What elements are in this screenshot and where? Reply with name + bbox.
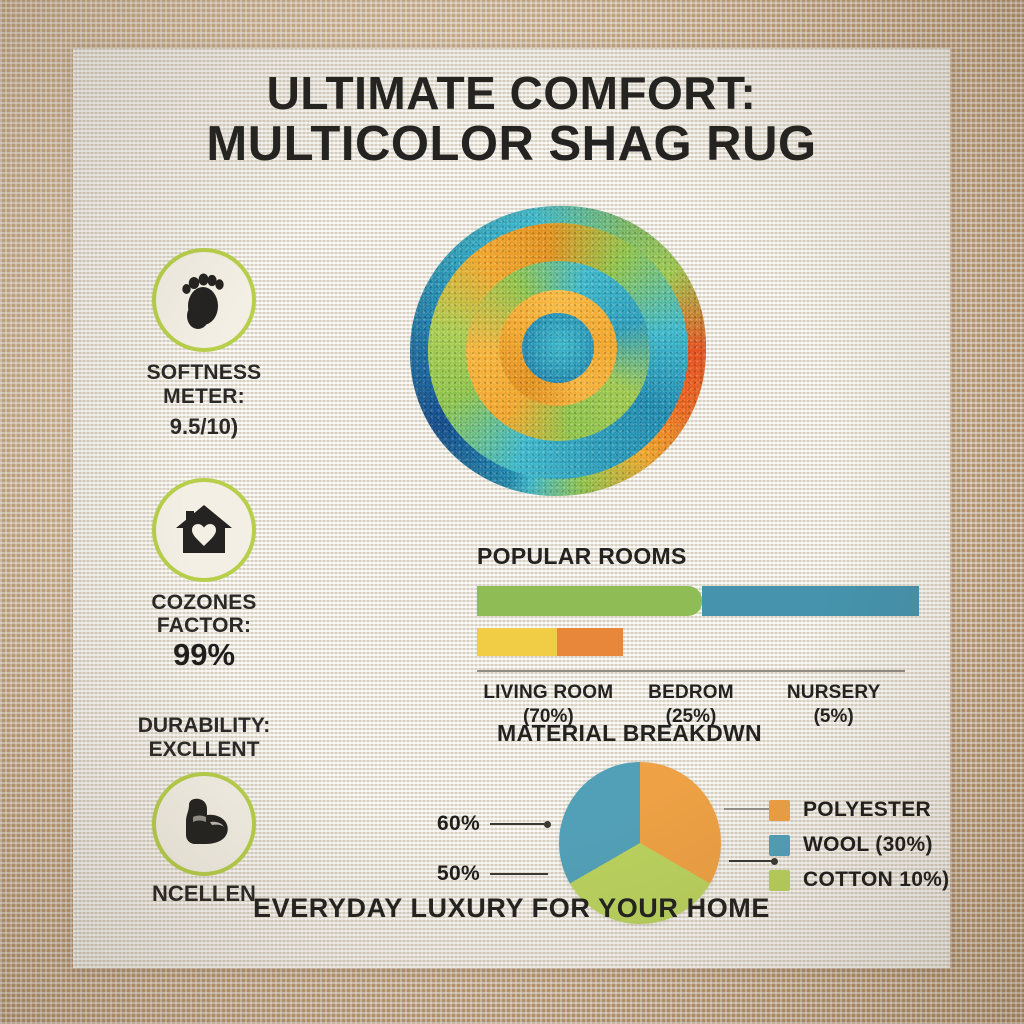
stat-coziness: COZONES FACTOR: 99% bbox=[97, 478, 311, 672]
legend-label-wool: WOOL (30%) bbox=[803, 833, 933, 857]
legend-label-cotton: COTTON 10%) bbox=[803, 868, 949, 892]
headline-line-2: MULTICOLOR SHAG RUG bbox=[99, 118, 924, 171]
callout-50-text: 50% bbox=[437, 862, 480, 886]
softness-label-line2: METER: bbox=[163, 385, 245, 408]
legend-swatch-wool bbox=[769, 835, 790, 856]
softness-label-line1: SOFTNESS bbox=[147, 361, 262, 384]
legend-swatch-polyester bbox=[769, 800, 790, 821]
coziness-icon-ring bbox=[152, 478, 256, 582]
callout-upper-right-leader bbox=[724, 808, 770, 810]
house-heart-icon bbox=[173, 501, 235, 559]
softness-label: SOFTNESS METER: bbox=[97, 361, 311, 409]
legend-item-wool: WOOL (30%) bbox=[769, 833, 949, 857]
rooms-tick-living-room-name: LIVING ROOM bbox=[477, 682, 620, 704]
headline-line-1: ULTIMATE COMFORT: bbox=[99, 68, 924, 118]
flexed-bicep-icon bbox=[173, 795, 235, 853]
durability-label: DURABILITY: EXCLLENT bbox=[97, 714, 311, 762]
legend-item-polyester: POLYESTER bbox=[769, 798, 949, 822]
legend-label-polyester: POLYESTER bbox=[803, 798, 931, 822]
durability-label-line1: DURABILITY: bbox=[138, 714, 271, 737]
rooms-tick-nursery-name: NURSERY bbox=[762, 682, 905, 704]
stat-durability: DURABILITY: EXCLLENT NCELLEN bbox=[97, 714, 311, 907]
durability-icon-ring bbox=[152, 772, 256, 876]
durability-label-line2: EXCLLENT bbox=[149, 738, 260, 761]
softness-value: 9.5/10) bbox=[97, 415, 311, 440]
coziness-label-line1: COZONES bbox=[151, 591, 256, 614]
popular-rooms-chart: POPULAR ROOMS LIVING ROOM (70%) BEDROM (… bbox=[419, 543, 919, 728]
stat-softness: SOFTNESS METER: 9.5/10) bbox=[97, 248, 311, 440]
coziness-label-line2: FACTOR: bbox=[157, 614, 251, 637]
callout-60-text: 60% bbox=[437, 812, 480, 836]
rooms-bar-row-lower bbox=[477, 628, 919, 656]
rug-fuzz-texture bbox=[410, 206, 706, 496]
rooms-bar-blue bbox=[702, 586, 919, 616]
callout-60: 60% bbox=[437, 812, 548, 836]
softness-icon-ring bbox=[152, 248, 256, 352]
legend-swatch-cotton bbox=[769, 870, 790, 891]
page-title: ULTIMATE COMFORT: MULTICOLOR SHAG RUG bbox=[73, 68, 950, 172]
popular-rooms-title: POPULAR ROOMS bbox=[477, 543, 919, 570]
material-breakdown-title: MATERIAL BREAKDWN bbox=[497, 720, 939, 747]
callout-50: 50% bbox=[437, 862, 548, 886]
coziness-value: 99% bbox=[97, 639, 311, 672]
callout-upper-right-line bbox=[724, 808, 770, 810]
rug-image bbox=[410, 206, 706, 496]
material-legend: POLYESTER WOOL (30%) COTTON 10%) bbox=[769, 798, 949, 903]
coziness-label: COZONES FACTOR: bbox=[97, 591, 311, 639]
stats-rail: SOFTNESS METER: 9.5/10) COZONES FACTOR: bbox=[97, 248, 311, 908]
footer-tagline: EVERYDAY LUXURY FOR YOUR HOME bbox=[73, 893, 950, 924]
rooms-bar-orange bbox=[557, 628, 623, 656]
callout-60-leader-line bbox=[490, 823, 548, 825]
rooms-axis-line bbox=[477, 670, 905, 672]
infographic-card: ULTIMATE COMFORT: MULTICOLOR SHAG RUG bbox=[73, 48, 950, 968]
rooms-bar-green bbox=[477, 586, 702, 616]
rug-photo bbox=[398, 198, 728, 508]
legend-item-cotton: COTTON 10%) bbox=[769, 868, 949, 892]
rooms-tick-bedroom-name: BEDROM bbox=[620, 682, 763, 704]
rooms-bar-row-upper bbox=[477, 586, 919, 616]
footprint-icon bbox=[176, 270, 232, 330]
callout-50-leader-line bbox=[490, 873, 548, 875]
rooms-bar-yellow bbox=[477, 628, 557, 656]
